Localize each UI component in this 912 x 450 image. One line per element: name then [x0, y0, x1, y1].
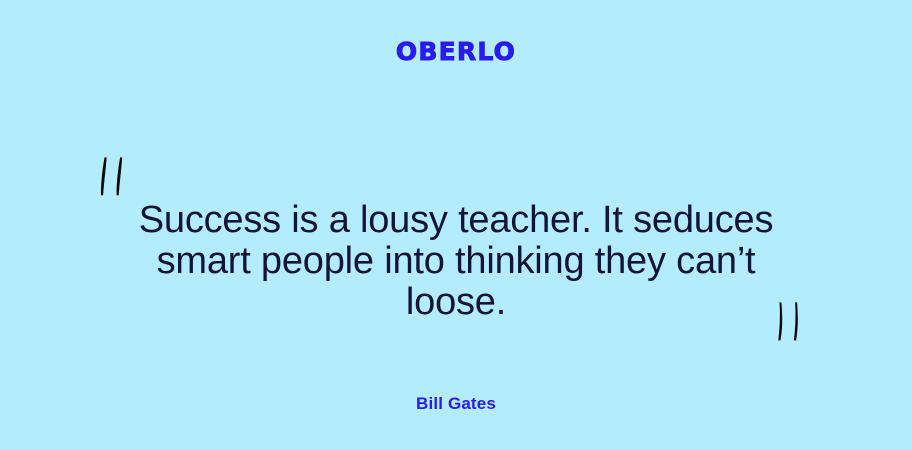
quote-author: Bill Gates — [0, 393, 912, 415]
quote-card: OBERLO Success is a lousy teacher. It se… — [0, 0, 912, 450]
quote-close-icon — [772, 297, 812, 345]
quote-line: smart people into thinking they can’t — [86, 241, 826, 282]
brand-logo: OBERLO — [0, 36, 912, 68]
quote-text: Success is a lousy teacher. It seduces s… — [86, 200, 826, 323]
quote-line: loose. — [86, 282, 826, 323]
quote-line: Success is a lousy teacher. It seduces — [86, 200, 826, 241]
quote-open-icon — [98, 152, 138, 200]
